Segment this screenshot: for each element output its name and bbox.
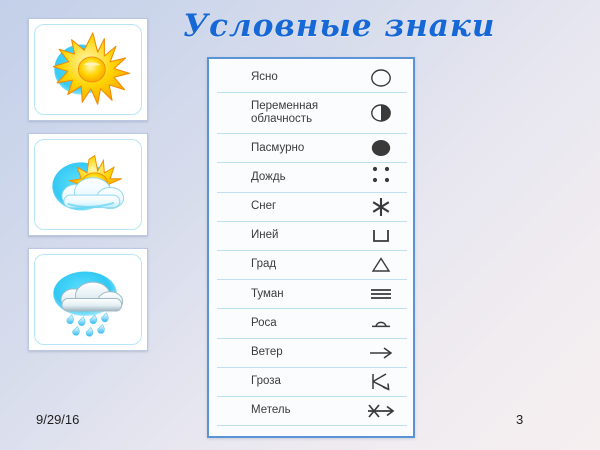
sun-behind-cloud-icon — [35, 140, 141, 229]
sunny-weather-image-frame — [34, 24, 142, 115]
table-row: Метель — [217, 397, 407, 426]
page-title: Условные знаки — [183, 8, 483, 44]
right-arrow-wind-symbol — [355, 345, 407, 361]
table-row: Гроза — [217, 368, 407, 397]
weather-image-column — [28, 18, 148, 363]
legend-label: Пасмурно — [251, 142, 355, 155]
legend-label: Град — [251, 258, 355, 271]
rain-cloud-icon — [35, 255, 141, 344]
legend-table: Ясно Переменная облачность Пасмурно — [207, 57, 415, 438]
legend-label: Туман — [251, 288, 355, 301]
partly-cloudy-weather-image-frame — [34, 139, 142, 230]
table-row: Град — [217, 251, 407, 280]
footer-page-number: 3 — [516, 412, 523, 427]
legend-label: Снег — [251, 200, 355, 213]
four-dots-rain-symbol — [355, 168, 407, 186]
rain-weather-image — [28, 248, 148, 351]
triangle-hail-symbol — [355, 256, 407, 274]
arch-dew-symbol — [355, 315, 407, 331]
table-row: Ясно — [217, 64, 407, 93]
legend-label: Дождь — [251, 171, 355, 184]
table-row: Иней — [217, 222, 407, 251]
legend-label: Переменная облачность — [251, 100, 355, 126]
legend-label: Метель — [251, 404, 355, 417]
rain-weather-image-frame — [34, 254, 142, 345]
table-row: Переменная облачность — [217, 93, 407, 134]
partly-cloudy-weather-image — [28, 133, 148, 236]
footer-date: 9/29/16 — [36, 412, 79, 427]
table-row: Ветер — [217, 339, 407, 368]
thunderstorm-symbol — [355, 372, 407, 392]
legend-label: Гроза — [251, 375, 355, 388]
table-row: Снег — [217, 193, 407, 222]
u-shape-frost-symbol — [355, 227, 407, 245]
legend-label: Роса — [251, 317, 355, 330]
table-row: Дождь — [217, 163, 407, 192]
sunny-weather-image — [28, 18, 148, 121]
clear-circle-symbol — [355, 68, 407, 88]
asterisk-snow-symbol — [355, 196, 407, 218]
table-row: Роса — [217, 309, 407, 338]
legend-label: Иней — [251, 229, 355, 242]
table-row: Пасмурно — [217, 134, 407, 163]
half-filled-circle-symbol — [355, 103, 407, 123]
legend-table-body: Ясно Переменная облачность Пасмурно — [217, 64, 407, 431]
three-lines-fog-symbol — [355, 286, 407, 302]
slide-canvas: Условные знаки — [0, 0, 600, 450]
legend-label: Ветер — [251, 346, 355, 359]
legend-label: Ясно — [251, 71, 355, 84]
blizzard-arrow-symbol — [355, 402, 407, 420]
sun-icon — [35, 25, 141, 114]
table-row: Туман — [217, 280, 407, 309]
filled-circle-symbol — [355, 138, 407, 158]
